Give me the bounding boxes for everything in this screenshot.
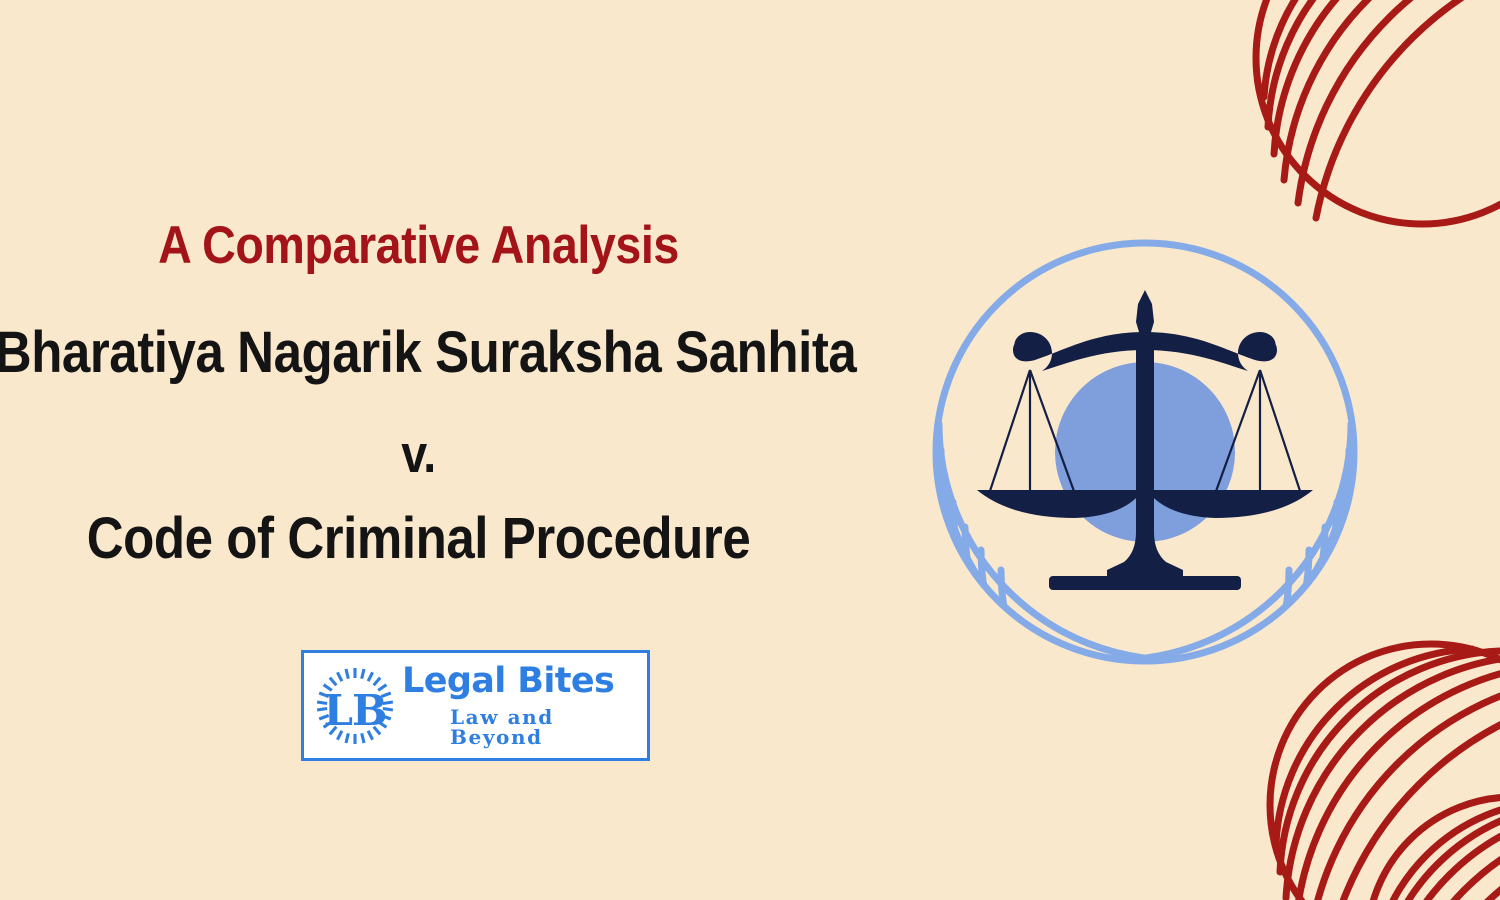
logo-wordmark: Legal Bites Law and Beyond bbox=[402, 664, 647, 747]
decoration-top-right bbox=[1252, 0, 1500, 228]
logo-name: Legal Bites bbox=[402, 664, 614, 699]
lb-monogram-icon: LB bbox=[314, 665, 396, 747]
decoration-bottom-right-a bbox=[1266, 640, 1500, 900]
page-title-versus: v. bbox=[0, 427, 842, 482]
page-title-line-2: Code of Criminal Procedure bbox=[0, 509, 842, 569]
headline-block: A Comparative Analysis Bharatiya Nagarik… bbox=[0, 218, 900, 569]
page-title-line-1: Bharatiya Nagarik Suraksha Sanhita bbox=[0, 323, 842, 383]
scales-of-justice-emblem bbox=[925, 232, 1365, 672]
decoration-bottom-right-b bbox=[1363, 793, 1500, 900]
legal-bites-logo[interactable]: LB Legal Bites Law and Beyond bbox=[301, 650, 650, 761]
logo-tagline: Law and Beyond bbox=[450, 707, 647, 747]
banner-canvas: A Comparative Analysis Bharatiya Nagarik… bbox=[0, 0, 1500, 900]
svg-text:LB: LB bbox=[323, 686, 386, 735]
page-title-kicker: A Comparative Analysis bbox=[0, 218, 842, 273]
